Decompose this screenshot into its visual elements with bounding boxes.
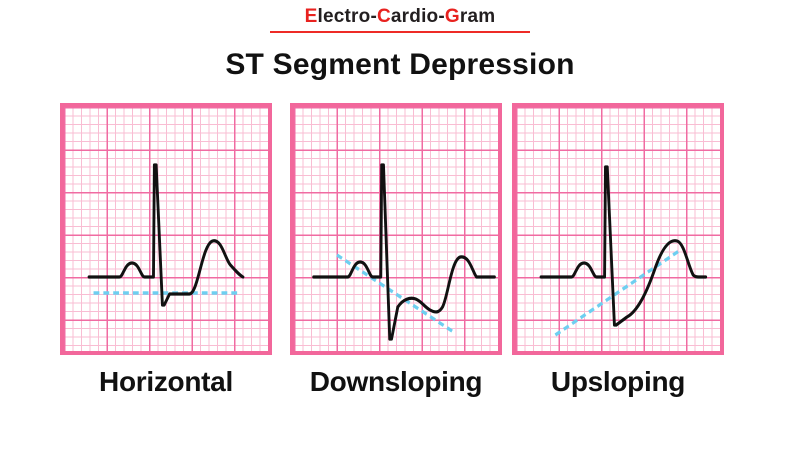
- ecg-waveform-downsloping: [294, 107, 498, 351]
- page-title: ST Segment Depression: [0, 48, 800, 82]
- brand-text: Electro-Cardio-Gram: [305, 6, 496, 31]
- ecg-panel-downsloping: [290, 103, 502, 355]
- ecg-panel-upsloping: [512, 103, 724, 355]
- ecg-panel-horizontal: [60, 103, 272, 355]
- brand-seg-0: E: [305, 6, 318, 27]
- ecg-trace-path: [541, 167, 706, 325]
- brand-seg-3: ardio-: [391, 6, 445, 27]
- panel-caption-downsloping: Downsloping: [266, 366, 526, 398]
- ecg-infographic: Electro-Cardio-Gram ST Segment Depressio…: [0, 0, 800, 450]
- panel-caption-horizontal: Horizontal: [40, 366, 292, 398]
- brand-seg-2: C: [377, 6, 391, 27]
- ecg-waveform-upsloping: [516, 107, 720, 351]
- ecg-waveform-horizontal: [64, 107, 268, 351]
- ecg-trace-path: [314, 165, 495, 339]
- brand-seg-4: G: [445, 6, 460, 27]
- st-reference-line-icon: [555, 251, 678, 335]
- ecg-trace-path: [89, 165, 243, 305]
- brand-underline-rule: [270, 31, 530, 33]
- brand-seg-5: ram: [460, 6, 495, 27]
- panel-caption-upsloping: Upsloping: [500, 366, 736, 398]
- brand-seg-1: lectro-: [318, 6, 377, 27]
- brand-title: Electro-Cardio-Gram: [0, 6, 800, 31]
